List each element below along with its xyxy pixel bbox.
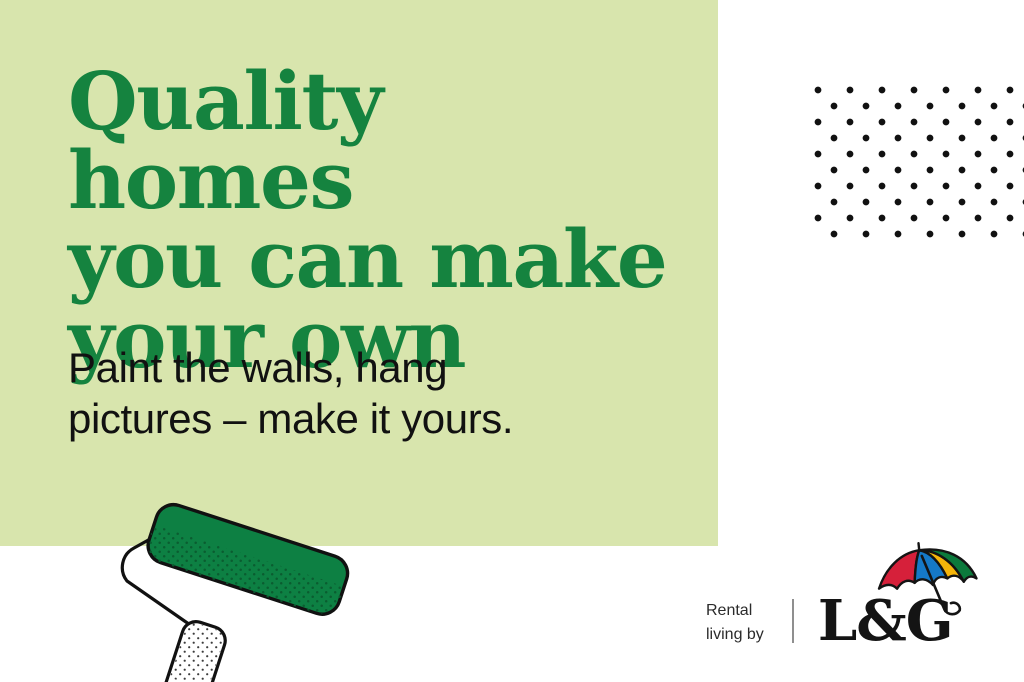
logo-divider [792,599,794,643]
logo-byline-text: Rental living by [706,599,764,655]
logo-lockup[interactable]: Rental living by [706,530,1006,655]
dot-pattern-decoration [812,84,1024,240]
subheading-text: Paint the walls, hang pictures – make it… [68,342,668,444]
advert-canvas: Quality homes you can make your own Pain… [0,0,1024,682]
lg-wordmark-text: L&G [818,593,953,649]
lg-brand-mark[interactable]: L&G [818,540,978,655]
paint-roller-illustration [110,490,400,682]
page-title: Quality homes you can make your own [68,62,688,379]
